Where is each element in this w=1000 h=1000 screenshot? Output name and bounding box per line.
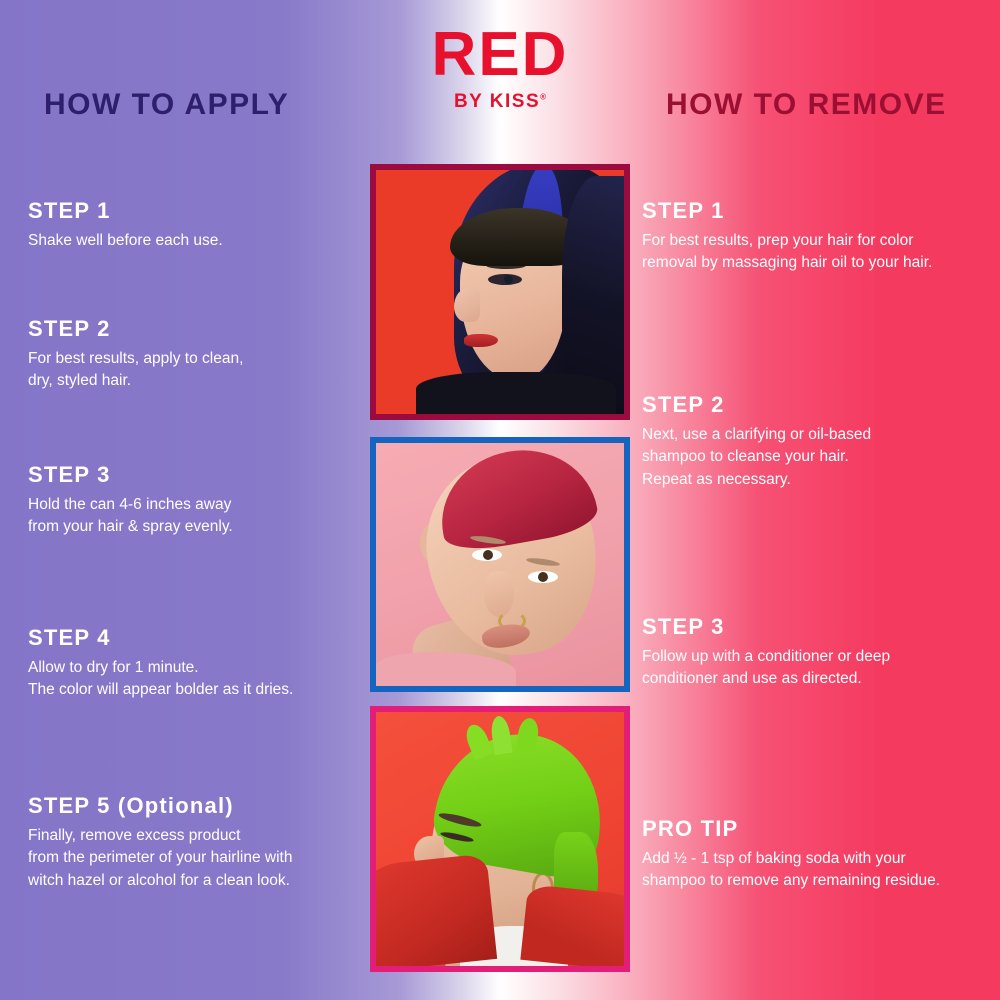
remove-step-2-body: Next, use a clarifying or oil-based sham… <box>642 424 992 491</box>
pro-tip-title: PRO TIP <box>642 816 992 842</box>
apply-step-5-body: Finally, remove excess product from the … <box>28 825 358 892</box>
photo-2-eye-left <box>472 549 502 561</box>
remove-step-2-title: STEP 2 <box>642 392 992 418</box>
apply-step-2-body: For best results, apply to clean, dry, s… <box>28 348 358 393</box>
logo-tagline-text: BY KISS <box>454 91 540 112</box>
how-to-apply-heading: HOW TO APPLY <box>44 88 289 122</box>
logo-tagline: BY KISS® <box>454 91 546 113</box>
brand-logo: RED BY KISS® <box>380 26 620 113</box>
photo-3-jacket-right <box>520 884 624 966</box>
apply-step-4: STEP 4 Allow to dry for 1 minute. The co… <box>28 625 358 702</box>
how-to-remove-heading: HOW TO REMOVE <box>666 88 947 122</box>
pro-tip-body: Add ½ - 1 tsp of baking soda with your s… <box>642 848 992 893</box>
pro-tip: PRO TIP Add ½ - 1 tsp of baking soda wit… <box>642 816 992 893</box>
apply-step-4-title: STEP 4 <box>28 625 358 651</box>
photo-1-nose <box>454 288 480 322</box>
remove-step-2: STEP 2 Next, use a clarifying or oil-bas… <box>642 392 992 491</box>
apply-step-1-title: STEP 1 <box>28 198 358 224</box>
photo-green-hair <box>370 706 630 972</box>
photo-3-jacket-left <box>376 853 497 966</box>
apply-step-5: STEP 5 (Optional) Finally, remove excess… <box>28 793 358 892</box>
remove-step-1-title: STEP 1 <box>642 198 992 224</box>
apply-step-1-body: Shake well before each use. <box>28 230 358 252</box>
photo-1-clothing <box>416 372 616 414</box>
photo-1-eye <box>488 274 522 285</box>
photo-1-content <box>376 170 624 414</box>
photo-2-content <box>376 443 624 686</box>
remove-step-3: STEP 3 Follow up with a conditioner or d… <box>642 614 992 691</box>
apply-step-5-title: STEP 5 (Optional) <box>28 793 358 819</box>
remove-step-3-body: Follow up with a conditioner or deep con… <box>642 646 992 691</box>
infographic-page: RED BY KISS® HOW TO APPLY STEP 1 Shake w… <box>0 0 1000 1000</box>
logo-wordmark: RED <box>380 26 620 85</box>
apply-step-3-title: STEP 3 <box>28 462 358 488</box>
apply-step-3: STEP 3 Hold the can 4-6 inches away from… <box>28 462 358 539</box>
photo-blue-black-hair <box>370 164 630 420</box>
apply-step-4-body: Allow to dry for 1 minute. The color wil… <box>28 657 358 702</box>
remove-step-1: STEP 1 For best results, prep your hair … <box>642 198 992 275</box>
registered-trademark-icon: ® <box>540 93 546 102</box>
photo-3-content <box>376 712 624 966</box>
remove-step-3-title: STEP 3 <box>642 614 992 640</box>
remove-step-1-body: For best results, prep your hair for col… <box>642 230 992 275</box>
apply-step-2-title: STEP 2 <box>28 316 358 342</box>
photo-2-eye-right <box>528 571 558 583</box>
photo-red-buzzcut <box>370 437 630 692</box>
apply-step-3-body: Hold the can 4-6 inches away from your h… <box>28 494 358 539</box>
apply-step-1: STEP 1 Shake well before each use. <box>28 198 358 252</box>
apply-step-2: STEP 2 For best results, apply to clean,… <box>28 316 358 393</box>
